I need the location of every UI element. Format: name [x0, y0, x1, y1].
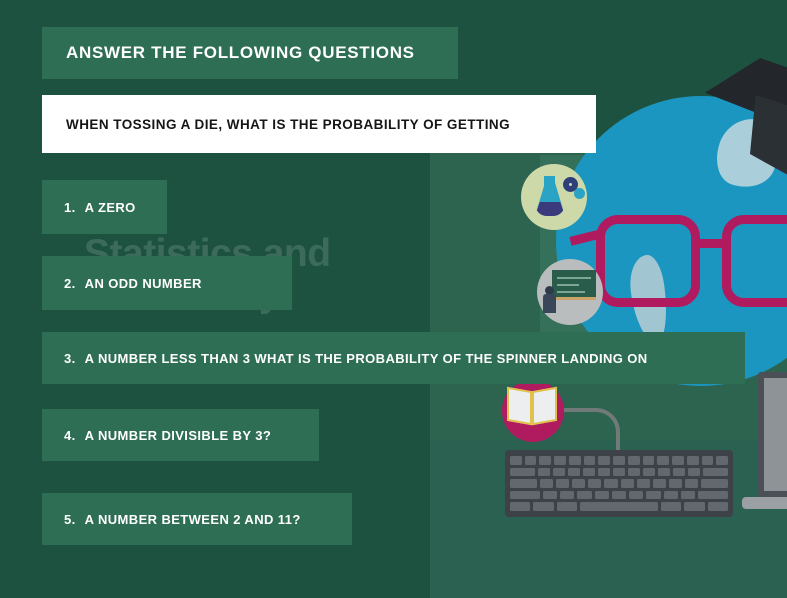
question-number: 2.	[64, 276, 76, 291]
prompt-label: WHEN TOSSING A DIE, WHAT IS THE PROBABIL…	[66, 117, 510, 132]
question-item-5[interactable]: 5. A NUMBER BETWEEN 2 AND 11?	[42, 493, 352, 545]
question-number: 1.	[64, 200, 76, 215]
question-number: 5.	[64, 512, 76, 527]
prompt-banner: WHEN TOSSING A DIE, WHAT IS THE PROBABIL…	[42, 95, 596, 153]
question-text: A ZERO	[85, 200, 136, 215]
question-item-2[interactable]: 2. AN ODD NUMBER	[42, 256, 292, 310]
slide-content: ANSWER THE FOLLOWING QUESTIONS WHEN TOSS…	[0, 0, 787, 598]
slide-canvas: Statistics and Probability ANSWER THE FO…	[0, 0, 787, 598]
question-text: A NUMBER DIVISIBLE BY 3?	[85, 428, 272, 443]
question-text: AN ODD NUMBER	[85, 276, 202, 291]
page-title-label: ANSWER THE FOLLOWING QUESTIONS	[66, 43, 415, 63]
question-item-4[interactable]: 4. A NUMBER DIVISIBLE BY 3?	[42, 409, 319, 461]
question-number: 3.	[64, 351, 76, 366]
question-item-3[interactable]: 3. A NUMBER LESS THAN 3 WHAT IS THE PROB…	[42, 332, 745, 384]
question-item-1[interactable]: 1. A ZERO	[42, 180, 167, 234]
question-number: 4.	[64, 428, 76, 443]
question-text: A NUMBER BETWEEN 2 AND 11?	[85, 512, 301, 527]
question-text: A NUMBER LESS THAN 3 WHAT IS THE PROBABI…	[85, 351, 648, 366]
page-title: ANSWER THE FOLLOWING QUESTIONS	[42, 27, 458, 79]
